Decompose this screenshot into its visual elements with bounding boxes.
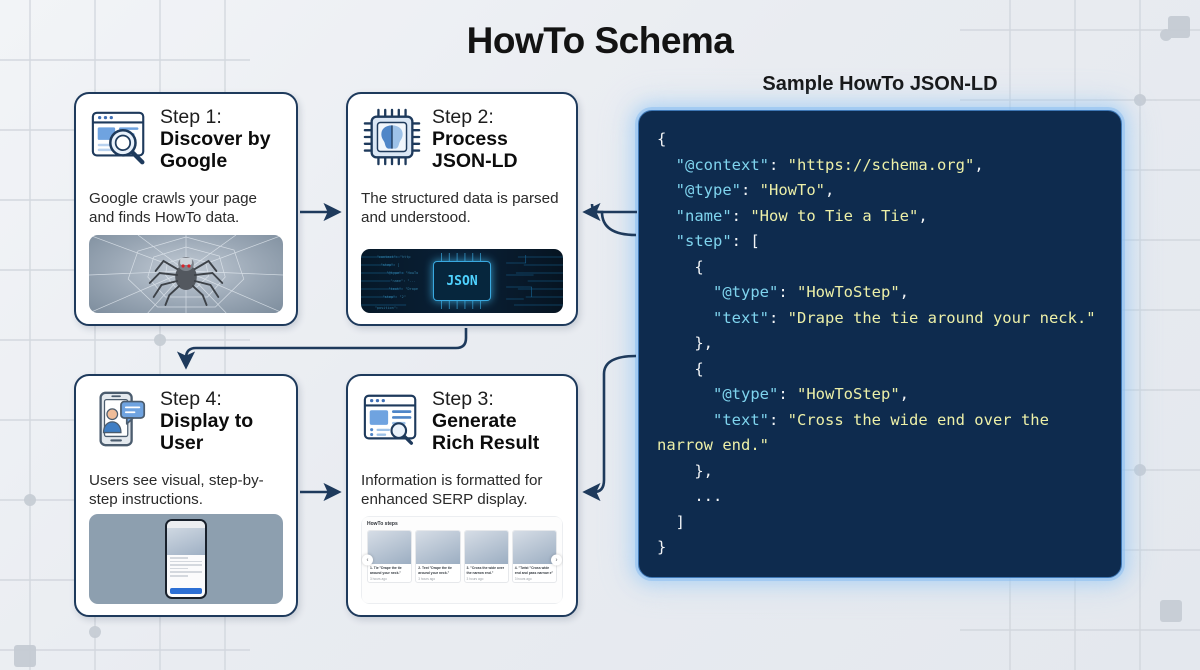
step-description: Google crawls your page and finds HowTo … xyxy=(89,189,283,228)
serp-howto-carousel-image: HowTo steps 1. Tie "Drape the tie around… xyxy=(361,516,563,604)
browser-rich-result-icon xyxy=(361,388,423,450)
step-description: Information is formatted for enhanced SE… xyxy=(361,471,563,510)
step-name: Process JSON-LD xyxy=(432,129,563,173)
svg-text:"step": [: "step": [ xyxy=(381,263,400,267)
step-label: Step 2: xyxy=(432,107,563,129)
serp-result-card: 4. "Twist "Cross wide end and pass narro… xyxy=(512,530,557,583)
card-header: Step 2: Process JSON-LD xyxy=(361,106,563,178)
serp-caption: 3. "Cross the wide over the narrow end."… xyxy=(465,564,508,582)
serp-result-card: 1. Tie "Drape the tie around your neck."… xyxy=(367,530,412,583)
infographic-canvas: HowTo Schema Sample HowTo JSON-LD { "@co… xyxy=(0,0,1200,670)
step-name: Discover by Google xyxy=(160,129,283,173)
svg-text:"text": "Drape: "text": "Drape xyxy=(388,287,418,291)
phone-hero-photo xyxy=(167,528,205,555)
serp-caption: 1. Tie "Drape the tie around your neck."… xyxy=(368,564,411,582)
serp-caption-time: 3 hours ago xyxy=(418,577,457,581)
serp-caption-time: 3 hours ago xyxy=(467,577,506,581)
serp-thumb-image xyxy=(465,531,508,564)
serp-carousel-strip: 1. Tie "Drape the tie around your neck."… xyxy=(367,530,557,583)
phone-content-lines xyxy=(167,555,205,588)
json-ld-code-panel: { "@context": "https://schema.org", "@ty… xyxy=(638,110,1122,578)
serp-caption-text: 4. "Twist "Cross wide end and pass narro… xyxy=(515,566,554,575)
serp-thumb-image xyxy=(368,531,411,564)
step-name: Display to User xyxy=(160,411,283,455)
phone-cta-button xyxy=(170,588,202,594)
serp-result-card: 2. Text "Drape the tie around your neck.… xyxy=(415,530,460,583)
serp-result-card: 3. "Cross the wide over the narrow end."… xyxy=(464,530,509,583)
card-title-group: Step 3: Generate Rich Result xyxy=(432,388,563,454)
phone-screen xyxy=(167,521,205,597)
serp-thumb-image xyxy=(513,531,556,564)
step-card-3[interactable]: Step 3: Generate Rich Result Information… xyxy=(346,374,578,617)
card-header: Step 1: Discover by Google xyxy=(89,106,283,178)
card-title-group: Step 4: Display to User xyxy=(160,388,283,454)
card-title-group: Step 2: Process JSON-LD xyxy=(432,106,563,172)
serp-caption-time: 3 hours ago xyxy=(515,577,554,581)
svg-text:"position":: "position": xyxy=(375,306,398,310)
serp-caption: 4. "Twist "Cross wide end and pass narro… xyxy=(513,564,556,582)
connector-code-to-step2 xyxy=(592,204,637,212)
spider-on-web-image xyxy=(89,235,283,313)
step-card-4[interactable]: Step 4: Display to User Users see visual… xyxy=(74,374,298,617)
browser-search-icon xyxy=(89,106,151,168)
phone-howto-mockup-image xyxy=(89,514,283,604)
connector-step2-to-step4 xyxy=(186,328,466,366)
serp-caption-time: 3 hours ago xyxy=(370,577,409,581)
serp-thumb-image xyxy=(416,531,459,564)
card-title-group: Step 1: Discover by Google xyxy=(160,106,283,172)
step-label: Step 1: xyxy=(160,107,283,129)
step-card-2[interactable]: Step 2: Process JSON-LD The structured d… xyxy=(346,92,578,326)
phone-search-bar xyxy=(167,521,205,528)
serp-caption-text: 2. Text "Drape the tie around your neck.… xyxy=(418,566,457,575)
json-ld-code-text: { "@context": "https://schema.org", "@ty… xyxy=(657,127,1107,561)
serp-carousel-title: HowTo steps xyxy=(367,521,557,527)
serp-caption: 2. Text "Drape the tie around your neck.… xyxy=(416,564,459,582)
card-header: Step 3: Generate Rich Result xyxy=(361,388,563,460)
step-label: Step 3: xyxy=(432,389,563,411)
json-chip-circuit-image: "context": "http"step": [ "@type": "HowT… xyxy=(361,249,563,313)
serp-caption-text: 1. Tie "Drape the tie around your neck." xyxy=(370,566,409,575)
code-panel-heading: Sample HowTo JSON-LD xyxy=(636,73,1124,96)
json-chip-label: JSON xyxy=(433,261,491,301)
step-label: Step 4: xyxy=(160,389,283,411)
phone-chat-user-icon xyxy=(89,388,151,450)
svg-text:"@type": "HowTo: "@type": "HowTo xyxy=(386,271,418,275)
chevron-left-icon[interactable]: ‹ xyxy=(362,555,373,566)
svg-text:"step": "2": "step": "2" xyxy=(383,295,406,299)
svg-text:"name": "...: "name": "... xyxy=(390,279,415,283)
card-header: Step 4: Display to User xyxy=(89,388,283,460)
svg-text:"context": "http: "context": "http xyxy=(377,255,411,259)
connector-code-step2 xyxy=(586,212,636,235)
page-title: HowTo Schema xyxy=(0,20,1200,62)
phone-frame xyxy=(165,519,207,599)
serp-caption-text: 3. "Cross the wide over the narrow end." xyxy=(467,566,506,575)
step-description: Users see visual, step-by-step instructi… xyxy=(89,471,283,510)
chevron-right-icon[interactable]: › xyxy=(551,555,562,566)
step-description: The structured data is parsed and unders… xyxy=(361,189,563,228)
step-name: Generate Rich Result xyxy=(432,411,563,455)
step-card-1[interactable]: Step 1: Discover by Google Google crawls… xyxy=(74,92,298,326)
brain-chip-icon xyxy=(361,106,423,168)
connector-code-to-step3 xyxy=(586,356,636,492)
